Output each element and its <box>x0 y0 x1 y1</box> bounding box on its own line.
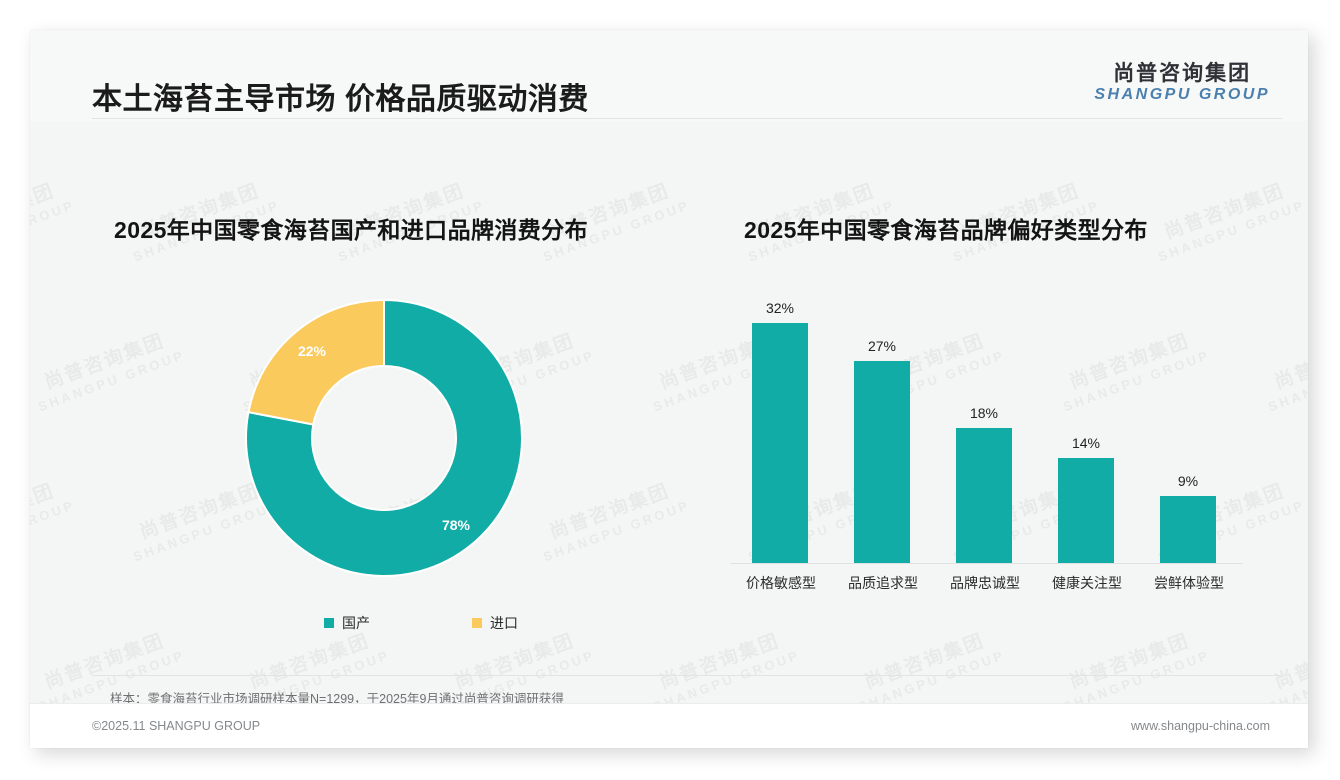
footer-website-url[interactable]: www.shangpu-china.com <box>1131 719 1270 733</box>
bar-价格敏感型[interactable] <box>752 323 808 563</box>
bar-category-label: 品牌忠诚型 <box>930 573 1040 593</box>
bar-category-label: 品质追求型 <box>828 573 938 593</box>
donut-legend: 国产 进口 <box>262 613 552 639</box>
donut-slices <box>246 300 522 576</box>
header-divider <box>92 118 1282 119</box>
bar-value-label: 32% <box>730 300 830 316</box>
page-title: 本土海苔主导市场 价格品质驱动消费 <box>92 74 589 118</box>
bar-category-label: 健康关注型 <box>1032 573 1142 593</box>
bar-column: 32% <box>730 293 830 563</box>
bar-value-label: 18% <box>934 405 1034 421</box>
bar-column: 14% <box>1036 293 1136 563</box>
donut-chart-title: 2025年中国零食海苔国产和进口品牌消费分布 <box>114 211 588 245</box>
donut-chart: 78% 22% <box>242 296 526 580</box>
donut-slice-进口[interactable] <box>248 300 384 425</box>
donut-svg: 78% 22% <box>242 296 526 580</box>
bar-value-label: 14% <box>1036 435 1136 451</box>
content-area: 2025年中国零食海苔国产和进口品牌消费分布 78% 22% 国产 进口 <box>30 121 1308 681</box>
bar-chart-title: 2025年中国零食海苔品牌偏好类型分布 <box>744 211 1148 245</box>
brand-logo: 尚普咨询集团 SHANGPU GROUP <box>1094 62 1270 105</box>
bar-plot-area: 32%27%18%14%9% <box>730 293 1250 563</box>
bar-category-label: 价格敏感型 <box>726 573 836 593</box>
footer-bar: ©2025.11 SHANGPU GROUP www.shangpu-china… <box>30 703 1308 748</box>
brand-name-cn: 尚普咨询集团 <box>1094 62 1270 86</box>
bar-品牌忠诚型[interactable] <box>956 428 1012 563</box>
legend-item-imported[interactable]: 进口 <box>472 613 518 633</box>
bar-健康关注型[interactable] <box>1058 458 1114 563</box>
bar-尝鲜体验型[interactable] <box>1160 496 1216 564</box>
bar-column: 9% <box>1138 293 1238 563</box>
legend-swatch-imported <box>472 618 482 628</box>
note-divider <box>92 675 1282 676</box>
bar-chart-panel: 2025年中国零食海苔品牌偏好类型分布 32%27%18%14%9% 价格敏感型… <box>702 121 1282 681</box>
footer-copyright: ©2025.11 SHANGPU GROUP <box>92 719 260 733</box>
bar-value-label: 27% <box>832 338 932 354</box>
brand-name-en: SHANGPU GROUP <box>1094 86 1270 104</box>
bar-baseline-axis <box>730 563 1243 564</box>
bar-category-label: 尝鲜体验型 <box>1134 573 1244 593</box>
slide-header: 本土海苔主导市场 价格品质驱动消费 尚普咨询集团 SHANGPU GROUP <box>30 30 1308 121</box>
slide-card: 尚普咨询集团SHANGPU GROUP尚普咨询集团SHANGPU GROUP尚普… <box>30 30 1308 748</box>
legend-item-domestic[interactable]: 国产 <box>324 613 370 633</box>
bar-column: 18% <box>934 293 1034 563</box>
donut-slice-label-imported: 22% <box>298 343 327 359</box>
bar-chart: 32%27%18%14%9% 价格敏感型品质追求型品牌忠诚型健康关注型尝鲜体验型 <box>730 293 1250 583</box>
donut-chart-panel: 2025年中国零食海苔国产和进口品牌消费分布 78% 22% 国产 进口 <box>82 121 682 681</box>
bar-column: 27% <box>832 293 932 563</box>
bar-品质追求型[interactable] <box>854 361 910 564</box>
legend-swatch-domestic <box>324 618 334 628</box>
legend-label-domestic: 国产 <box>342 613 370 633</box>
bar-value-label: 9% <box>1138 473 1238 489</box>
donut-slice-label-domestic: 78% <box>442 517 471 533</box>
legend-label-imported: 进口 <box>490 613 518 633</box>
